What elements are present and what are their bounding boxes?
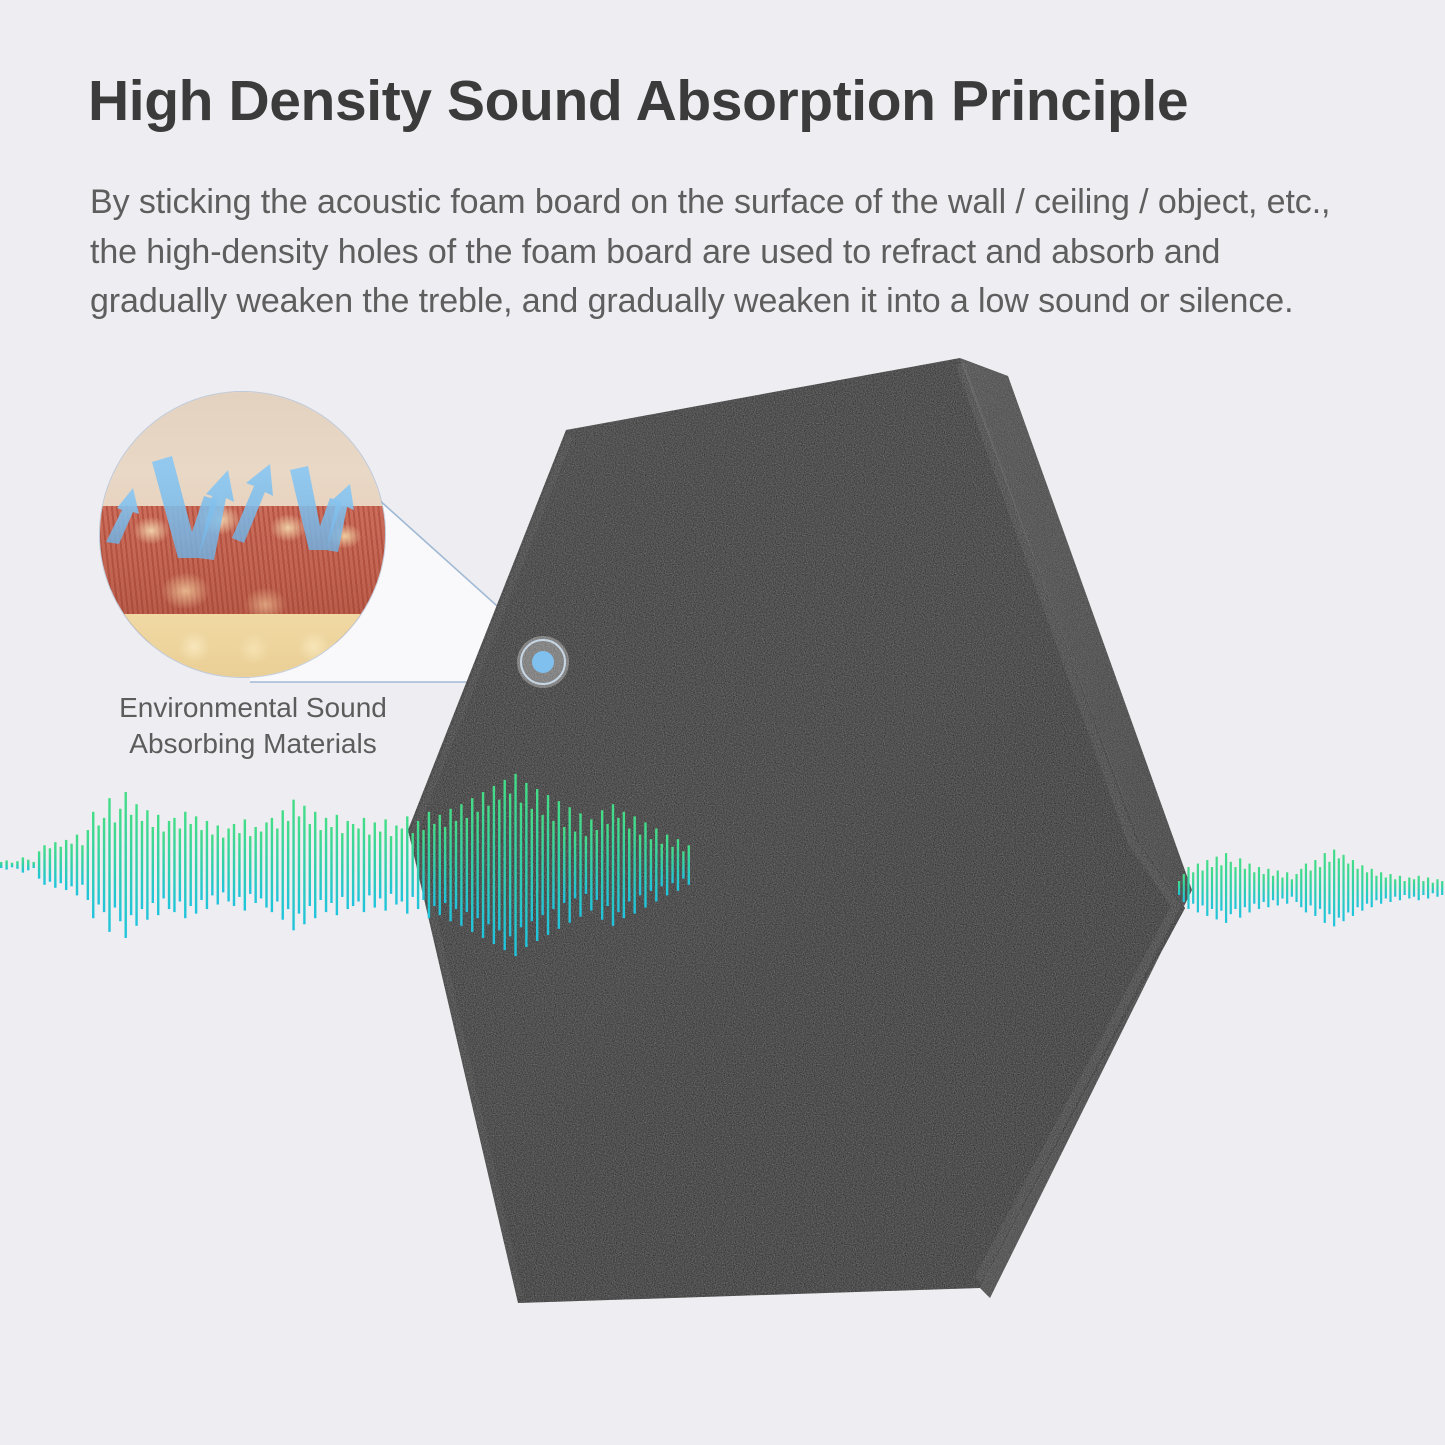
sound-arrows-group bbox=[100, 392, 385, 677]
waveform-bar bbox=[1394, 879, 1396, 896]
waveform-bar bbox=[238, 833, 240, 897]
waveform-bar bbox=[347, 821, 349, 909]
waveform-bar bbox=[195, 816, 197, 913]
waveform-bar bbox=[1352, 860, 1354, 916]
waveform-bar bbox=[1206, 860, 1208, 916]
waveform-bar bbox=[97, 825, 99, 904]
waveform-bar bbox=[119, 809, 121, 921]
waveform-bar bbox=[1305, 864, 1307, 913]
waveform-bar bbox=[0, 862, 2, 868]
waveform-bar bbox=[1413, 879, 1415, 896]
body-paragraph: By sticking the acoustic foam board on t… bbox=[90, 178, 1355, 327]
waveform-bar bbox=[157, 815, 159, 915]
waveform-bar bbox=[1291, 879, 1293, 896]
waveform-bar bbox=[368, 835, 370, 896]
waveform-bar bbox=[390, 836, 392, 894]
waveform-bar bbox=[314, 812, 316, 918]
waveform-bar bbox=[49, 848, 51, 881]
waveform-bar bbox=[249, 836, 251, 894]
waveform-bar bbox=[1253, 872, 1255, 903]
waveform-bar bbox=[87, 830, 89, 900]
waveform-bar bbox=[487, 806, 489, 925]
waveform-bar bbox=[1234, 867, 1236, 909]
waveform-bar bbox=[1220, 865, 1222, 910]
waveform-bar bbox=[303, 806, 305, 925]
waveform-bar bbox=[596, 830, 598, 900]
waveform-bar bbox=[200, 830, 202, 900]
waveform-bar bbox=[644, 822, 646, 907]
waveform-bar bbox=[211, 835, 213, 896]
waveform-bar bbox=[265, 822, 267, 907]
waveform-bar bbox=[1201, 871, 1203, 906]
waveform-bar bbox=[1230, 862, 1232, 914]
waveform-bar bbox=[1178, 881, 1180, 895]
waveform-bar bbox=[341, 833, 343, 897]
waveform-bar bbox=[568, 807, 570, 923]
waveform-bar bbox=[60, 847, 62, 883]
waveform-bar bbox=[125, 792, 127, 938]
waveform-bar bbox=[633, 816, 635, 913]
waveform-bar bbox=[1375, 876, 1377, 900]
waveform-bar bbox=[1277, 871, 1279, 906]
waveform-bar bbox=[152, 827, 154, 903]
waveform-bar bbox=[233, 824, 235, 906]
waveform-bar bbox=[1319, 867, 1321, 909]
waveform-bar bbox=[287, 821, 289, 909]
waveform-bar bbox=[190, 824, 192, 906]
waveform-bar bbox=[1244, 869, 1246, 907]
waveform-bar bbox=[65, 840, 67, 890]
waveform-bar bbox=[563, 827, 565, 903]
waveform-bar bbox=[1408, 878, 1410, 899]
magnifier-circle bbox=[100, 392, 385, 677]
waveform-bar bbox=[217, 825, 219, 904]
waveform-bar bbox=[179, 829, 181, 902]
waveform-bar bbox=[552, 821, 554, 909]
waveform-bar bbox=[168, 821, 170, 909]
waveform-bar bbox=[1371, 869, 1373, 907]
waveform-bar bbox=[1272, 876, 1274, 900]
waveform-bar bbox=[1211, 867, 1213, 909]
arrow-v-main bbox=[152, 456, 234, 560]
callout-dot bbox=[532, 651, 554, 673]
waveform-bar bbox=[1338, 858, 1340, 917]
waveform-bar bbox=[1295, 874, 1297, 902]
waveform-bar bbox=[558, 801, 560, 929]
waveform-bar bbox=[1216, 857, 1218, 920]
waveform-bar bbox=[384, 819, 386, 910]
waveform-bar bbox=[601, 810, 603, 919]
waveform-bar bbox=[1248, 864, 1250, 913]
waveform-bar bbox=[1192, 872, 1194, 903]
waveform-bar bbox=[688, 845, 690, 885]
waveform-bar bbox=[1183, 874, 1185, 902]
waveform-bar bbox=[1357, 869, 1359, 907]
waveform-bar bbox=[1263, 874, 1265, 902]
waveform-bar bbox=[579, 813, 581, 916]
waveform-bar bbox=[1328, 862, 1330, 914]
waveform-bar bbox=[682, 851, 684, 878]
waveform-bar bbox=[357, 829, 359, 902]
infographic-canvas: High Density Sound Absorption Principle … bbox=[0, 0, 1445, 1445]
waveform-bar bbox=[422, 830, 424, 900]
waveform-bar bbox=[1310, 871, 1312, 906]
waveform-bar bbox=[1281, 878, 1283, 899]
arrow-up-left bbox=[106, 488, 139, 544]
waveform-bar bbox=[54, 842, 56, 888]
waveform-bar bbox=[336, 815, 338, 915]
waveform-bar bbox=[260, 832, 262, 899]
waveform-bar bbox=[5, 860, 7, 869]
waveform-bar bbox=[276, 829, 278, 902]
waveform-bar bbox=[1187, 867, 1189, 909]
waveform-bar bbox=[374, 822, 376, 907]
waveform-bar bbox=[22, 857, 24, 872]
waveform-bar bbox=[32, 862, 34, 868]
waveform-bar bbox=[520, 803, 522, 928]
waveform-bar bbox=[1404, 881, 1406, 895]
waveform-bar bbox=[1361, 865, 1363, 910]
waveform-bar bbox=[590, 819, 592, 910]
waveform-bar bbox=[352, 824, 354, 906]
waveform-bar bbox=[162, 832, 164, 899]
waveform-bar bbox=[661, 844, 663, 887]
waveform-bar bbox=[1225, 853, 1227, 923]
waveform-bar bbox=[135, 804, 137, 926]
waveform-bar bbox=[173, 818, 175, 912]
waveform-bar bbox=[639, 835, 641, 896]
waveform-bar bbox=[254, 827, 256, 903]
waveform-bar bbox=[1342, 855, 1344, 921]
waveform-bar bbox=[130, 815, 132, 915]
waveform-bar bbox=[1389, 874, 1391, 902]
waveform-bar bbox=[108, 798, 110, 932]
waveform-bar bbox=[531, 809, 533, 921]
waveform-bar bbox=[70, 844, 72, 887]
waveform-bar bbox=[1347, 864, 1349, 913]
waveform-bar bbox=[363, 818, 365, 912]
waveform-bar bbox=[509, 794, 511, 937]
waveform-bar bbox=[547, 795, 549, 935]
panel-callout-marker[interactable] bbox=[517, 636, 569, 688]
waveform-bar bbox=[11, 863, 13, 868]
waveform-bar bbox=[623, 812, 625, 918]
waveform-bar bbox=[574, 832, 576, 899]
waveform-bar bbox=[379, 832, 381, 899]
incoming-waveform bbox=[0, 770, 690, 960]
waveform-bar bbox=[1436, 879, 1438, 896]
waveform-bar bbox=[184, 812, 186, 918]
waveform-bar bbox=[1380, 872, 1382, 903]
waveform-bar bbox=[141, 821, 143, 909]
waveform-bar bbox=[1422, 881, 1424, 895]
waveform-bar bbox=[417, 821, 419, 909]
waveform-bar bbox=[330, 827, 332, 903]
waveform-bar bbox=[476, 812, 478, 918]
waveform-bar bbox=[1314, 860, 1316, 916]
waveform-bar bbox=[1324, 853, 1326, 923]
waveform-bar bbox=[428, 812, 430, 918]
waveform-bar bbox=[92, 812, 94, 918]
material-magnifier-inset[interactable] bbox=[100, 392, 385, 677]
waveform-bars-attenuated bbox=[1178, 850, 1445, 927]
waveform-bar bbox=[482, 792, 484, 938]
waveform-bar bbox=[27, 860, 29, 871]
waveform-bar bbox=[43, 845, 45, 885]
waveform-bar bbox=[1427, 878, 1429, 899]
waveform-bar bbox=[406, 816, 408, 913]
waveform-bar bbox=[650, 839, 652, 891]
waveform-bar bbox=[504, 780, 506, 950]
waveform-bar bbox=[401, 829, 403, 902]
waveform-bar bbox=[677, 839, 679, 891]
waveform-bar bbox=[244, 819, 246, 910]
waveform-bar bbox=[298, 816, 300, 913]
waveform-bar bbox=[411, 833, 413, 897]
waveform-bar bbox=[449, 809, 451, 921]
waveform-bar bbox=[38, 851, 40, 878]
waveform-bar bbox=[606, 824, 608, 906]
waveform-bar bbox=[1333, 850, 1335, 927]
waveform-bar bbox=[617, 818, 619, 912]
waveform-bar bbox=[671, 847, 673, 883]
waveform-bar bbox=[309, 824, 311, 906]
waveform-bar bbox=[1300, 869, 1302, 907]
waveform-bar bbox=[444, 827, 446, 903]
attenuated-waveform bbox=[1178, 838, 1445, 938]
waveform-bar bbox=[222, 838, 224, 893]
waveform-bar bbox=[460, 804, 462, 926]
waveform-bar bbox=[455, 821, 457, 909]
waveform-bar bbox=[81, 845, 83, 885]
waveform-bar bbox=[319, 830, 321, 900]
waveform-bar bbox=[1267, 869, 1269, 907]
waveform-bar bbox=[1239, 858, 1241, 917]
waveform-bar bbox=[76, 835, 78, 896]
waveform-bar bbox=[1366, 872, 1368, 903]
waveform-bar bbox=[1385, 878, 1387, 899]
waveform-bar bbox=[433, 824, 435, 906]
waveform-bar bbox=[1197, 864, 1199, 913]
waveform-bar bbox=[1441, 881, 1443, 895]
waveform-bar bbox=[514, 774, 516, 956]
waveform-bar bbox=[103, 818, 105, 912]
arrow-up-middle bbox=[232, 464, 273, 543]
waveform-bar bbox=[395, 825, 397, 904]
waveform-bar bbox=[498, 800, 500, 931]
waveform-bar bbox=[1418, 876, 1420, 900]
waveform-bar bbox=[666, 835, 668, 896]
waveform-bar bbox=[466, 818, 468, 912]
arrow-v-right bbox=[290, 466, 354, 552]
waveform-bar bbox=[227, 829, 229, 902]
waveform-bar bbox=[1432, 883, 1434, 893]
waveform-bar bbox=[146, 810, 148, 919]
waveform-bar bbox=[1399, 876, 1401, 900]
waveform-bar bbox=[493, 786, 495, 944]
waveform-bar bbox=[271, 818, 273, 912]
waveform-bar bbox=[628, 829, 630, 902]
waveform-bar bbox=[536, 789, 538, 941]
waveform-bar bbox=[114, 822, 116, 907]
waveform-bar bbox=[325, 818, 327, 912]
inset-caption: Environmental Sound Absorbing Materials bbox=[88, 690, 418, 762]
waveform-bar bbox=[655, 829, 657, 902]
page-title: High Density Sound Absorption Principle bbox=[88, 72, 1378, 132]
waveform-bar bbox=[439, 815, 441, 915]
waveform-bar bbox=[282, 810, 284, 919]
waveform-bar bbox=[16, 861, 18, 869]
waveform-bar bbox=[206, 821, 208, 909]
waveform-bar bbox=[1286, 872, 1288, 903]
waveform-bar bbox=[1258, 867, 1260, 909]
waveform-bar bbox=[612, 804, 614, 926]
waveform-bar bbox=[585, 836, 587, 894]
waveform-bar bbox=[541, 815, 543, 915]
waveform-bar bbox=[471, 798, 473, 932]
waveform-bar bbox=[525, 783, 527, 947]
waveform-bar bbox=[292, 800, 294, 931]
waveform-bars bbox=[0, 774, 690, 956]
